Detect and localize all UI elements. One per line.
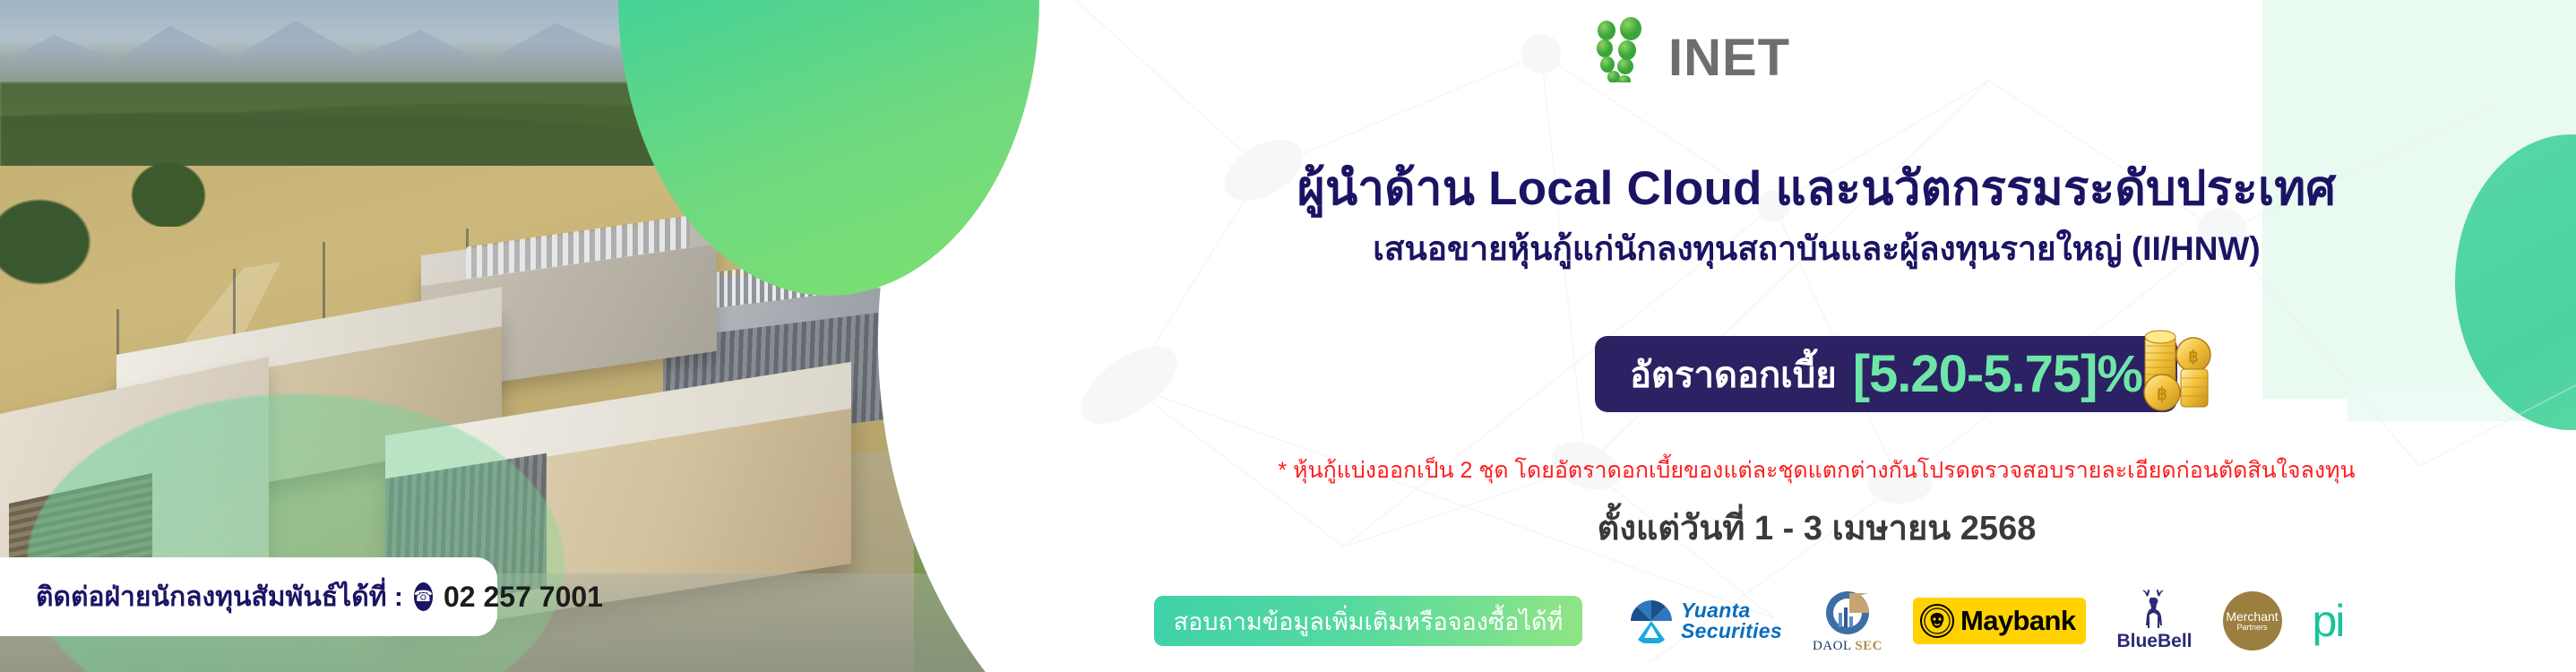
yuanta-line-1: Yuanta bbox=[1681, 600, 1782, 621]
broker-merchant-partners[interactable]: Merchant Partners bbox=[2223, 591, 2282, 650]
bluebell-deer-icon bbox=[2132, 590, 2175, 631]
contact-cta-button[interactable]: สอบถามข้อมูลเพิ่มเติมหรือจองซื้อได้ที่ bbox=[1154, 596, 1582, 646]
yuanta-line-2: Securities bbox=[1681, 621, 1782, 642]
merchant-line-2: Partners bbox=[2236, 624, 2267, 632]
broker-logos: Yuanta Securities DAOL bbox=[1629, 588, 2343, 654]
page-title: ผู้นำด้าน Local Cloud และนวัตกรรมระดับปร… bbox=[1057, 151, 2576, 226]
broker-pi[interactable]: pi bbox=[2313, 602, 2344, 641]
svg-text:฿: ฿ bbox=[2188, 348, 2198, 366]
bluebell-wordmark: BlueBell bbox=[2116, 631, 2192, 652]
interest-rate-label: อัตราดอกเบี้ย bbox=[1630, 346, 1837, 403]
inet-logo: INET bbox=[1595, 13, 1790, 82]
page-subtitle: เสนอขายหุ้นกู้แก่นักลงทุนสถาบันและผู้ลงท… bbox=[1057, 222, 2576, 275]
inet-bond-offering-banner: INET ผู้นำด้าน Local Cloud และนวัตกรรมระ… bbox=[0, 0, 2576, 672]
cta-and-brokers-row: สอบถามข้อมูลเพิ่มเติมหรือจองซื้อได้ที่ Y… bbox=[1057, 581, 2576, 661]
gold-coins-icon: ฿ ฿ bbox=[2132, 315, 2218, 416]
interest-rate-box: อัตราดอกเบี้ย [5.20-5.75]% bbox=[1595, 336, 2177, 412]
daol-wordmark: DAOL SEC bbox=[1813, 639, 1882, 654]
tree bbox=[0, 193, 99, 291]
investor-relations-contact-card: ติดต่อฝ่ายนักลงทุนสัมพันธ์ได้ที่ : ☎ 02 … bbox=[0, 557, 497, 636]
merchant-partners-circle-icon: Merchant Partners bbox=[2223, 591, 2282, 650]
offer-period: ตั้งแต่วันที่ 1 - 3 เมษายน 2568 bbox=[1057, 500, 2576, 555]
broker-yuanta-securities[interactable]: Yuanta Securities bbox=[1629, 599, 1782, 643]
pi-wordmark: pi bbox=[2313, 602, 2344, 641]
svg-text:฿: ฿ bbox=[2157, 385, 2167, 404]
inet-green-dots-icon bbox=[1595, 13, 1663, 82]
yuanta-star-icon bbox=[1629, 599, 1674, 643]
inet-logo-text: INET bbox=[1668, 33, 1790, 82]
phone-icon: ☎ bbox=[414, 582, 433, 611]
broker-maybank[interactable]: Maybank bbox=[1913, 598, 2086, 644]
daol-text-main: DAOL bbox=[1813, 639, 1851, 653]
daol-pie-chart-icon bbox=[1822, 588, 1873, 638]
broker-bluebell[interactable]: BlueBell bbox=[2116, 590, 2192, 652]
merchant-line-1: Merchant bbox=[2226, 610, 2278, 624]
maybank-wordmark: Maybank bbox=[1960, 605, 2075, 637]
content-column: INET ผู้นำด้าน Local Cloud และนวัตกรรมระ… bbox=[1057, 0, 2576, 672]
daol-text-sec: SEC bbox=[1855, 639, 1882, 653]
disclaimer-text: * หุ้นกู้แบ่งออกเป็น 2 ชุด โดยอัตราดอกเบ… bbox=[1057, 452, 2576, 488]
broker-daol-sec[interactable]: DAOL SEC bbox=[1813, 588, 1882, 654]
contact-label: ติดต่อฝ่ายนักลงทุนสัมพันธ์ได้ที่ : bbox=[36, 576, 403, 618]
maybank-tiger-icon bbox=[1920, 604, 1954, 638]
tree bbox=[125, 157, 211, 227]
interest-rate-value: [5.20-5.75]% bbox=[1853, 344, 2142, 404]
contact-phone-number: 02 257 7001 bbox=[444, 581, 603, 614]
yuanta-wordmark: Yuanta Securities bbox=[1681, 600, 1782, 642]
